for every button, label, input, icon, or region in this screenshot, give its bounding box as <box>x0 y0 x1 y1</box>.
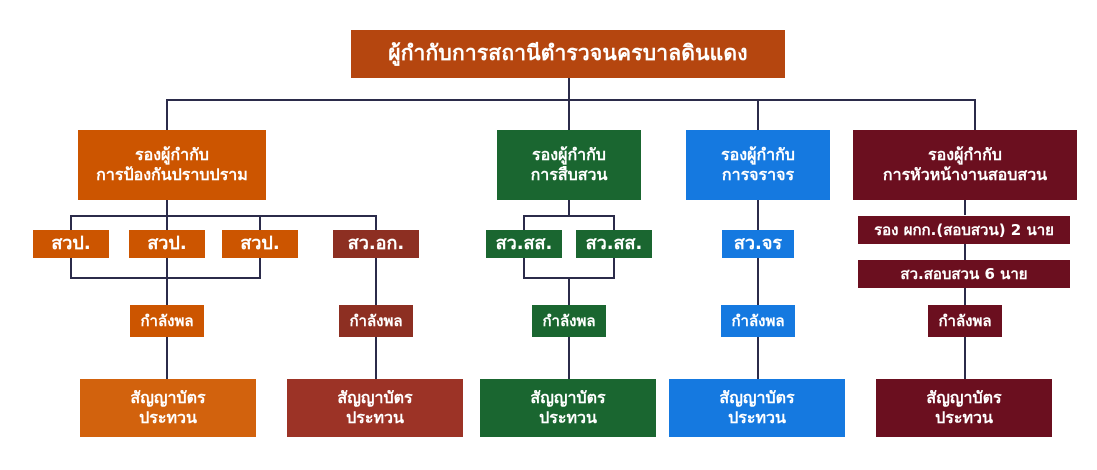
unit-node-inquiry-officer[interactable]: สว.สอบสวน 6 นาย <box>858 260 1070 288</box>
connector-unit-sss2-bottom <box>613 257 615 279</box>
rank-node-prevention[interactable]: สัญญาบัตร ประทวน <box>80 379 256 437</box>
org-chart: ผู้กำกับการสถานีตำรวจนครบาลดินแดง รองผู้… <box>0 0 1097 470</box>
connector-unit-sss1-bottom <box>523 257 525 279</box>
dept-node-traffic[interactable]: รองผู้กำกับ การจราจร <box>686 130 830 200</box>
connector-unit-svp1-bottom <box>70 257 72 279</box>
connector-unit-svp1-top <box>70 215 72 231</box>
unit-node-sss-1[interactable]: สว.สส. <box>486 230 562 258</box>
connector-traffic-unit-to-personnel <box>757 257 759 305</box>
connector-investigation-to-personnel <box>568 277 570 305</box>
connector-traffic-stem <box>757 199 759 231</box>
connector-bus-to-prevention <box>166 99 168 130</box>
personnel-node-prevention[interactable]: กำลังพล <box>130 305 204 337</box>
dept-node-inquiry[interactable]: รองผู้กำกับ การหัวหน้างานสอบสวน <box>853 130 1077 200</box>
connector-prevention-to-personnel <box>166 277 168 305</box>
personnel-node-investigation[interactable]: กำลังพล <box>532 305 606 337</box>
rank-node-traffic[interactable]: สัญญาบัตร ประทวน <box>669 379 845 437</box>
dept-node-investigation[interactable]: รองผู้กำกับ การสืบสวน <box>497 130 641 200</box>
rank-node-inquiry[interactable]: สัญญาบัตร ประทวน <box>876 379 1052 437</box>
personnel-node-traffic[interactable]: กำลังพล <box>721 305 795 337</box>
connector-unit-admin-top <box>375 215 377 231</box>
unit-node-deputy-inquiry[interactable]: รอง ผกก.(สอบสวน) 2 นาย <box>858 216 1070 244</box>
connector-personnel-prevention-to-rank <box>166 337 168 379</box>
dept-node-prevention[interactable]: รองผู้กำกับ การป้องกันปราบปราม <box>78 130 266 200</box>
connector-bus-to-traffic <box>757 99 759 130</box>
connector-unit-svp2-top <box>166 215 168 231</box>
connector-inquiry-unit1-to-unit2 <box>964 244 966 261</box>
connector-personnel-investigation-to-rank <box>568 337 570 379</box>
connector-department-bus <box>166 99 976 101</box>
connector-personnel-traffic-to-rank <box>757 337 759 379</box>
connector-root-stem <box>568 78 570 100</box>
connector-personnel-inquiry-to-rank <box>964 337 966 379</box>
connector-unit-svp3-bottom <box>259 257 261 279</box>
connector-admin-unit-to-personnel <box>375 257 377 305</box>
connector-unit-svp2-bottom <box>166 257 168 279</box>
connector-prevention-unit-bus <box>70 215 377 217</box>
connector-bus-to-investigation <box>568 99 570 130</box>
root-node-commander[interactable]: ผู้กำกับการสถานีตำรวจนครบาลดินแดง <box>351 30 785 78</box>
connector-inquiry-unit2-to-personnel <box>964 288 966 305</box>
unit-node-sss-2[interactable]: สว.สส. <box>576 230 652 258</box>
connector-personnel-admin-to-rank <box>375 337 377 379</box>
connector-inquiry-stem <box>964 199 966 215</box>
connector-investigation-stem <box>568 199 570 216</box>
unit-node-admin[interactable]: สว.อก. <box>333 230 419 258</box>
unit-node-svp-1[interactable]: สวป. <box>33 230 109 258</box>
connector-unit-sss2-top <box>613 215 615 231</box>
connector-unit-svp3-top <box>259 215 261 231</box>
connector-bus-to-inquiry <box>974 99 976 130</box>
unit-node-svp-3[interactable]: สวป. <box>222 230 298 258</box>
rank-node-investigation[interactable]: สัญญาบัตร ประทวน <box>480 379 656 437</box>
personnel-node-admin[interactable]: กำลังพล <box>339 305 413 337</box>
unit-node-svp-2[interactable]: สวป. <box>129 230 205 258</box>
connector-investigation-unit-bus <box>523 215 615 217</box>
connector-unit-sss1-top <box>523 215 525 231</box>
unit-node-traffic-officer[interactable]: สว.จร <box>722 230 794 258</box>
rank-node-admin[interactable]: สัญญาบัตร ประทวน <box>287 379 463 437</box>
personnel-node-inquiry[interactable]: กำลังพล <box>928 305 1002 337</box>
connector-prevention-stem <box>166 199 168 216</box>
